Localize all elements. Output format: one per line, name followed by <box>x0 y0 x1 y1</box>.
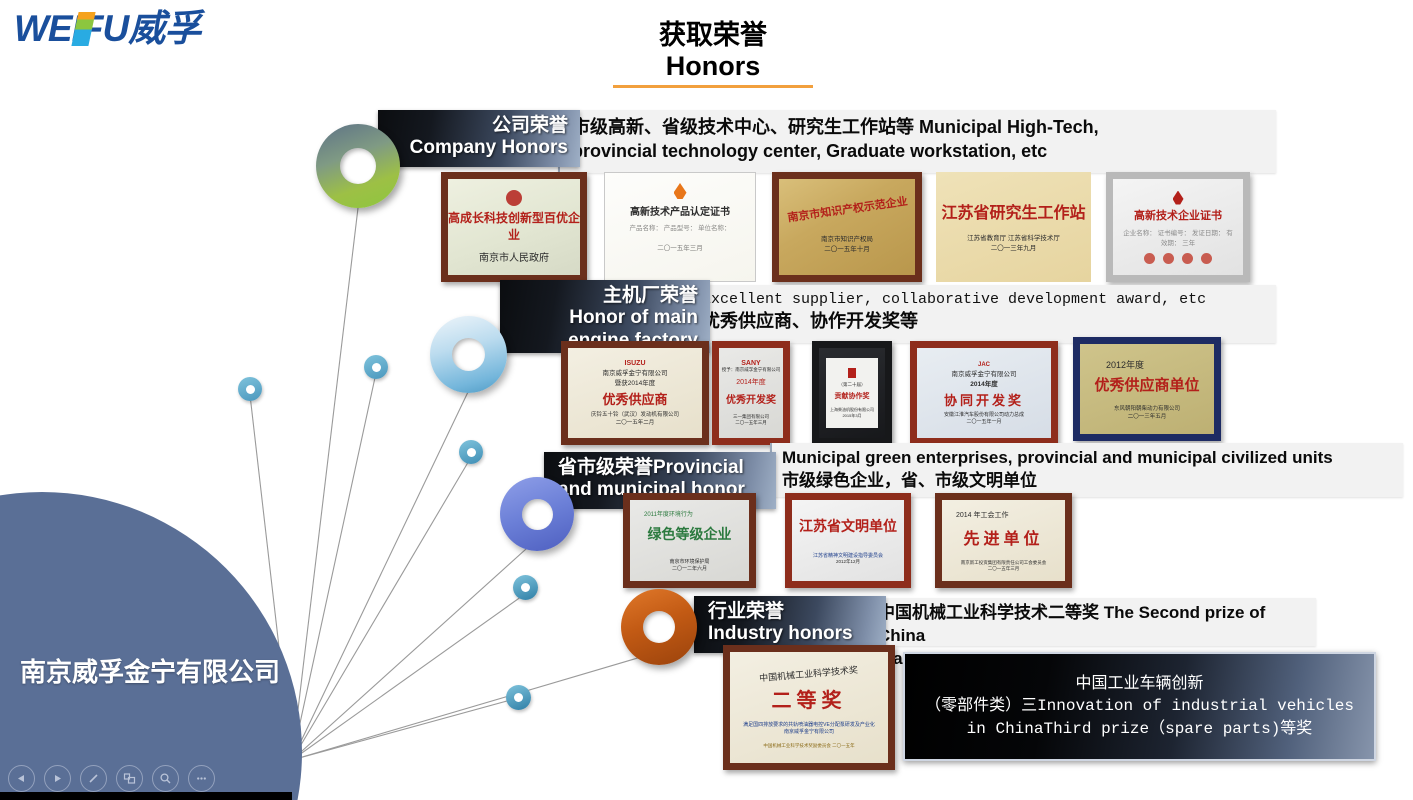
certificate-plaque: 江苏省研究生工作站 江苏省教育厅 江苏省科学技术厅 二〇一三年九月 <box>936 172 1091 282</box>
certificate-org: 南京威孚金宁有限公司 <box>603 367 668 377</box>
certificate-issuer: 庆铃五十铃（武汉）发动机有限公司 <box>591 410 679 418</box>
tab-industry-cn: 行业荣誉 <box>708 601 874 623</box>
certificate-title: 高成长科技创新型百优企业 <box>448 209 580 243</box>
award-line1: 中国工业车辆创新 <box>925 672 1354 695</box>
slides-view-button[interactable] <box>116 765 143 792</box>
player-controls <box>8 765 215 792</box>
award-highlight-box: 中国工业车辆创新 （零部件类）三Innovation of industrial… <box>903 652 1376 761</box>
node-dot <box>238 377 262 401</box>
panel-provincial-line2: 市级绿色企业，省、市级文明单位 <box>782 470 1395 493</box>
certificate-plaque: （第二十届） 贡献协作奖 上海柴油机股份有限公司 2015年3月 <box>812 341 892 445</box>
certificate-org: 授予：南京威孚金宁有限公司 <box>722 367 781 373</box>
certificate-title: 贡献协作奖 <box>835 391 870 401</box>
bottom-black-bar <box>0 792 292 800</box>
pen-icon <box>87 772 100 785</box>
certificate-title: 优秀供应商 <box>602 389 667 408</box>
certificate-org: （第二十届） <box>839 382 866 388</box>
certificate-subtext: 企业名称： 证书编号： 发证日期： 有效期： 三年 <box>1123 227 1233 247</box>
node-dot <box>506 685 531 710</box>
certificate-plaque: 高成长科技创新型百优企业 南京市人民政府 <box>441 172 587 282</box>
page-title: 获取荣誉 Honors <box>613 20 813 88</box>
node-dot <box>459 440 483 464</box>
certificate-date: 二〇一五年三月 <box>988 566 1020 572</box>
certificate-title: 江苏省研究生工作站 <box>941 202 1085 225</box>
certificate-date: 2012年12月 <box>836 559 860 565</box>
next-button[interactable] <box>44 765 71 792</box>
certificate-year: 2012年度 <box>1106 358 1144 371</box>
panel-company-honors-line2: provincial technology center, Graduate w… <box>572 140 1266 164</box>
tab-industry-en: Industry honors <box>708 623 874 645</box>
certificate-year: 2014年度 <box>736 377 766 387</box>
certificate-year: 2014年度 <box>970 378 997 388</box>
certificate-plaque: 2011年度环境行为 绿色等级企业 南京市环境保护局 二〇一二年六月 <box>623 493 756 588</box>
certificate-year: 暨获2014年度 <box>615 377 655 387</box>
tab-main-engine-cn: 主机厂荣誉 <box>514 285 698 307</box>
node-dot <box>513 575 538 600</box>
certificate-issuer2: 南京威孚金宁有限公司 <box>784 728 834 735</box>
panel-provincial-line1: Municipal green enterprises, provincial … <box>782 447 1395 470</box>
certificate-title: 南京市知识产权示范企业 <box>786 193 908 226</box>
award-line2: （零部件类）三Innovation of industrial vehicles <box>925 695 1354 718</box>
certificate-title: 江苏省文明单位 <box>799 516 897 536</box>
certificate-title: 先进单位 <box>963 525 1043 549</box>
certificate-brand: SANY <box>741 360 760 367</box>
page-title-cn: 获取荣誉 <box>613 20 813 51</box>
logo-text: WEIFU威孚 <box>14 10 200 47</box>
certificate-badge: 2011年度环境行为 <box>644 509 693 518</box>
certificate-badge: 2014 年工会工作 <box>956 510 1009 520</box>
panel-industry-honors: 中国机械工业科学技术二等奖 The Second prize of China … <box>866 598 1316 646</box>
certificate-date: 二〇一五年十月 <box>824 243 870 253</box>
certificate-subtext: 产品名称： 产品型号： 单位名称： <box>620 222 740 232</box>
certificate-issuer: 南京市人民政府 <box>479 249 549 264</box>
certificate-issuer: 满足国四排放要求的共轨喷油器电控VE分配泵研发及产业化 <box>743 721 875 728</box>
certificate-issuer: 南京市环境保护局 <box>669 558 709 565</box>
certificate-date: 二〇一三年五月 <box>1128 412 1167 420</box>
certificate-date: 二〇一二年六月 <box>672 565 707 572</box>
slide-canvas: 南京威孚金宁有限公司 WEIFU威孚 获取荣誉 Honors 市级高新、省级技术… <box>0 0 1413 800</box>
certificate-plaque: 高新技术产品认定证书 产品名称： 产品型号： 单位名称： 二〇一五年三月 <box>604 172 756 282</box>
tab-company-honors-cn: 公司荣誉 <box>392 115 568 137</box>
title-underline <box>613 85 813 88</box>
ellipsis-icon <box>195 772 208 785</box>
panel-provincial-municipal: Municipal green enterprises, provincial … <box>770 443 1403 497</box>
company-name: 南京威孚金宁有限公司 <box>10 655 290 690</box>
panel-main-engine-line2: 优秀供应商、协作开发奖等 <box>702 310 1266 334</box>
ring-main-engine-factory <box>430 316 507 393</box>
triangle-left-icon <box>16 773 27 784</box>
award-line3: in ChinaThird prize（spare parts)等奖 <box>925 718 1354 741</box>
certificate-title: 绿色等级企业 <box>648 524 732 544</box>
zoom-button[interactable] <box>152 765 179 792</box>
tab-company-honors-en: Company Honors <box>392 137 568 159</box>
certificate-issuer: 南京市知识产权局 <box>821 233 873 243</box>
panel-main-engine-factory: Excellent supplier, collaborative develo… <box>688 285 1276 343</box>
previous-button[interactable] <box>8 765 35 792</box>
magnifier-icon <box>159 772 172 785</box>
ring-company-honors <box>316 124 400 208</box>
page-title-en: Honors <box>613 51 813 82</box>
certificate-title: 高新技术企业证书 <box>1134 207 1222 223</box>
certificate-plaque: ISUZU 南京威孚金宁有限公司 暨获2014年度 优秀供应商 庆铃五十铃（武汉… <box>561 341 709 445</box>
certificate-title: 优秀开发奖 <box>726 391 776 406</box>
certificate-plaque: 2012年度 优秀供应商单位 东风朝阳朝柴动力有限公司 二〇一三年五月 <box>1073 337 1221 441</box>
certificate-date: 二〇一三年九月 <box>991 242 1037 252</box>
certificate-title: 协同开发奖 <box>944 390 1024 409</box>
panel-company-honors-line1: 市级高新、省级技术中心、研究生工作站等 Municipal High-Tech, <box>572 116 1266 140</box>
panel-industry-line1: 中国机械工业科学技术二等奖 The Second prize of China <box>878 602 1308 648</box>
certificate-org: 南京威孚金宁有限公司 <box>952 368 1017 378</box>
certificate-brand: ISUZU <box>625 360 646 367</box>
more-options-button[interactable] <box>188 765 215 792</box>
certificate-title: 高新技术产品认定证书 <box>630 203 730 218</box>
certificate-issuer: 江苏省精神文明建设指导委员会 <box>813 552 883 559</box>
certificate-date: 二〇一五年一月 <box>966 418 1001 425</box>
certificate-plaque: 2014 年工会工作 先进单位 南京新工投资集团有限责任公司工会委员会 二〇一五… <box>935 493 1072 588</box>
certificate-plaque: 江苏省文明单位 江苏省精神文明建设指导委员会 2012年12月 <box>785 493 911 588</box>
ring-provincial-municipal <box>500 477 574 551</box>
certificate-plaque: 南京市知识产权示范企业 南京市知识产权局 二〇一五年十月 <box>772 172 922 282</box>
certificate-header: 中国机械工业科学技术奖 <box>759 662 859 684</box>
certificate-plaque: SANY 授予：南京威孚金宁有限公司 2014年度 优秀开发奖 三一集团有限公司… <box>712 341 790 445</box>
certificate-date: 二〇一五年二月 <box>616 418 655 426</box>
certificate-date: 二〇一五年三月 <box>657 242 703 252</box>
certificate-issuer: 东风朝阳朝柴动力有限公司 <box>1114 404 1180 412</box>
tab-main-engine-en: Honor of main <box>514 307 698 329</box>
triangle-right-icon <box>52 773 63 784</box>
certificate-issuer: 安徽江淮汽车股份有限公司动力总成 <box>944 411 1024 418</box>
certificate-plaque: 高新技术企业证书 企业名称： 证书编号： 发证日期： 有效期： 三年 <box>1106 172 1250 282</box>
panel-main-engine-line1: Excellent supplier, collaborative develo… <box>702 290 1266 310</box>
tab-company-honors[interactable]: 公司荣誉 Company Honors <box>378 110 580 167</box>
slides-icon <box>123 772 136 785</box>
ring-industry-honors <box>621 589 697 665</box>
pen-button[interactable] <box>80 765 107 792</box>
panel-company-honors: 市级高新、省级技术中心、研究生工作站等 Municipal High-Tech,… <box>558 110 1276 173</box>
certificate-date: 2015年3月 <box>842 413 861 419</box>
certificate-title: 二等奖 <box>772 684 847 713</box>
tab-provincial-cn: 省市级荣誉Provincial <box>558 457 764 479</box>
certificate-date: 中国机械工业科学技术奖励委员会 二〇一五年 <box>763 743 854 749</box>
certificate-date: 二〇一五年三月 <box>735 420 767 426</box>
certificate-plaque: JAC 南京威孚金宁有限公司 2014年度 协同开发奖 安徽江淮汽车股份有限公司… <box>910 341 1058 445</box>
certificate-title: 优秀供应商单位 <box>1094 374 1199 395</box>
certificate-issuer: 江苏省教育厅 江苏省科学技术厅 <box>967 232 1060 242</box>
brand-logo: WEIFU威孚 <box>14 10 200 47</box>
node-dot <box>364 355 388 379</box>
certificate-plaque: 中国机械工业科学技术奖 二等奖 满足国四排放要求的共轨喷油器电控VE分配泵研发及… <box>723 645 895 770</box>
